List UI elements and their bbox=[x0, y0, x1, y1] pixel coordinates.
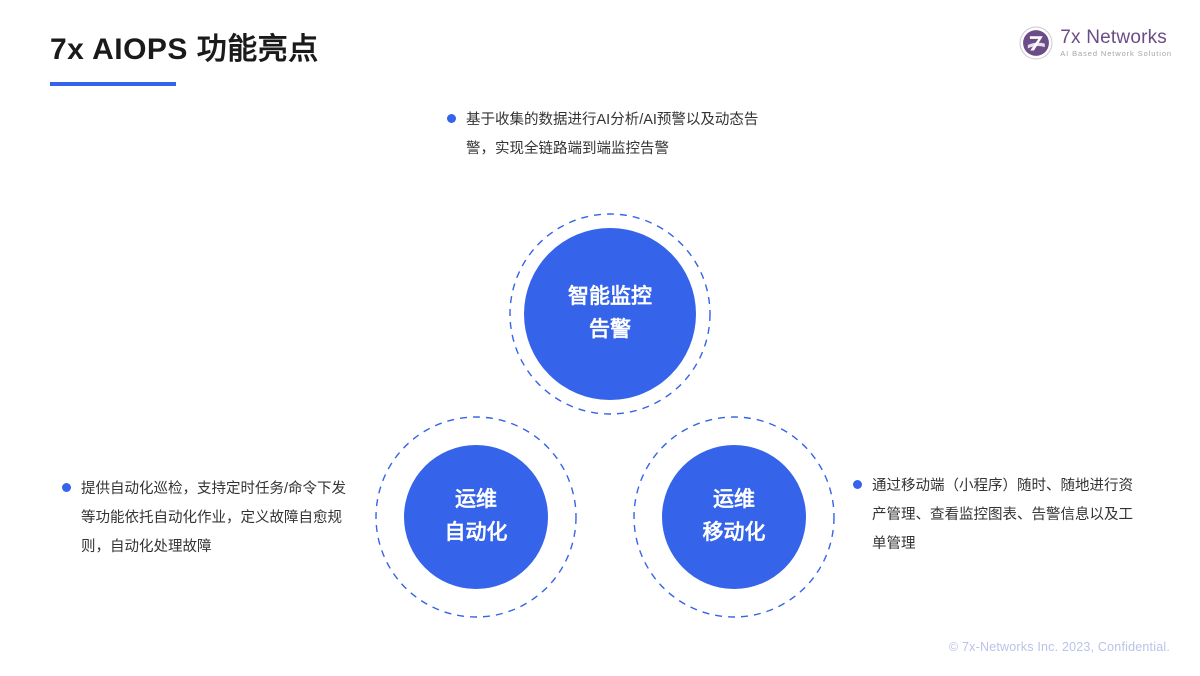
logo-name: 7x Networks bbox=[1060, 28, 1172, 47]
node-automation-line1: 运维 bbox=[455, 484, 497, 517]
brand-logo: 7x Networks AI Based Network Solution bbox=[1019, 26, 1172, 60]
callout-monitoring-text: 基于收集的数据进行AI分析/AI预警以及动态告警，实现全链路端到端监控告警 bbox=[466, 106, 767, 164]
slide: 7x AIOPS 功能亮点 7x Networks AI Based Netwo… bbox=[0, 0, 1200, 676]
node-monitor-line1: 智能监控 bbox=[568, 281, 652, 314]
node-mobile-line1: 运维 bbox=[713, 484, 755, 517]
bullet-dot-icon bbox=[62, 483, 71, 492]
bullet-dot-icon bbox=[447, 114, 456, 123]
callout-automation-text: 提供自动化巡检，支持定时任务/命令下发等功能依托自动化作业，定义故障自愈规则，自… bbox=[81, 475, 354, 562]
node-monitor-line2: 告警 bbox=[589, 314, 631, 347]
seven-x-emblem-icon bbox=[1019, 26, 1053, 60]
page-title: 7x AIOPS 功能亮点 bbox=[50, 24, 319, 68]
node-mobile-line2: 移动化 bbox=[703, 517, 766, 550]
node-ops-automation[interactable]: 运维 自动化 bbox=[404, 445, 548, 589]
callout-mobility: 通过移动端（小程序）随时、随地进行资产管理、查看监控图表、告警信息以及工单管理 bbox=[853, 472, 1143, 559]
callout-automation: 提供自动化巡检，支持定时任务/命令下发等功能依托自动化作业，定义故障自愈规则，自… bbox=[62, 475, 354, 562]
node-ops-mobility[interactable]: 运维 移动化 bbox=[662, 445, 806, 589]
node-intelligent-monitoring[interactable]: 智能监控 告警 bbox=[524, 228, 696, 400]
callout-monitoring: 基于收集的数据进行AI分析/AI预警以及动态告警，实现全链路端到端监控告警 bbox=[447, 106, 767, 164]
callout-mobility-text: 通过移动端（小程序）随时、随地进行资产管理、查看监控图表、告警信息以及工单管理 bbox=[872, 472, 1143, 559]
logo-tagline: AI Based Network Solution bbox=[1060, 50, 1172, 58]
footer-copyright: © 7x-Networks Inc. 2023, Confidential. bbox=[949, 640, 1170, 654]
node-automation-line2: 自动化 bbox=[445, 517, 508, 550]
bullet-dot-icon bbox=[853, 480, 862, 489]
logo-wordmark: 7x Networks AI Based Network Solution bbox=[1060, 28, 1172, 58]
title-underline-rule bbox=[50, 82, 176, 86]
